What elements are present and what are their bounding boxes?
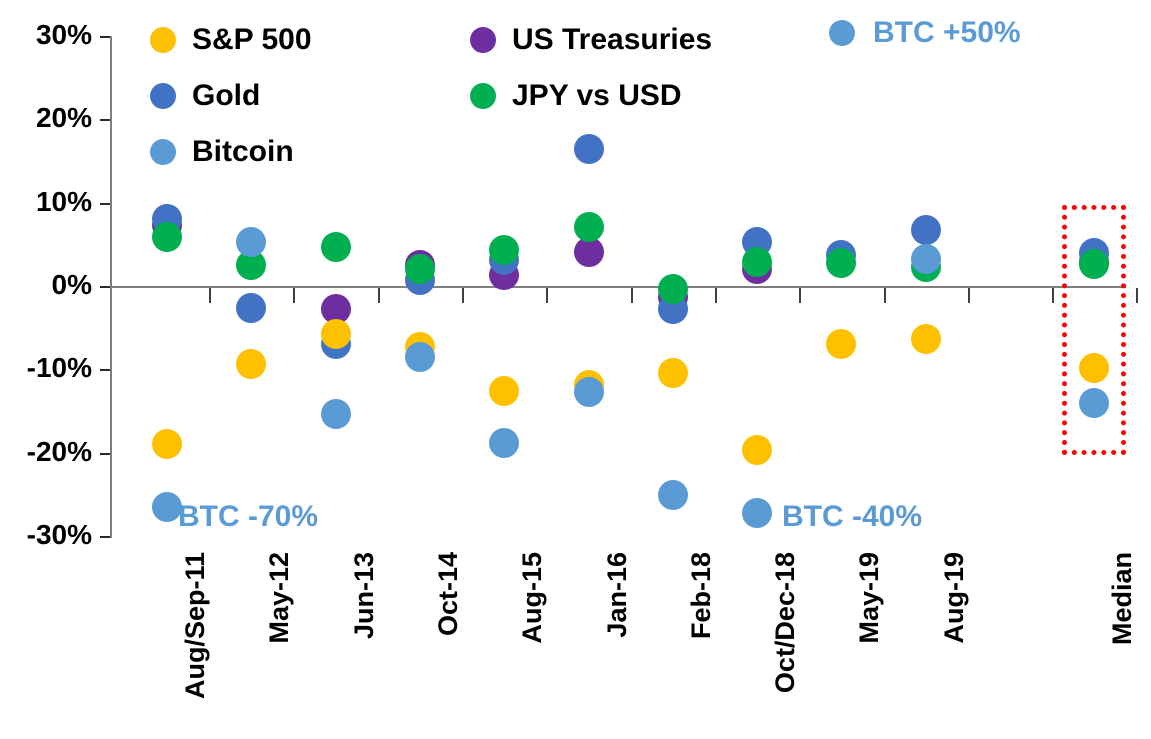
y-axis-tick: [100, 536, 110, 538]
y-axis-tick-label: -20%: [0, 438, 92, 466]
x-axis-tick: [1052, 288, 1054, 303]
data-point: [658, 274, 688, 304]
legend-item[interactable]: Bitcoin: [150, 124, 312, 180]
data-point: [658, 480, 688, 510]
data-point: [489, 376, 519, 406]
y-axis-tick-label: 10%: [0, 188, 92, 216]
y-axis-tick: [100, 453, 110, 455]
legend-item[interactable]: JPY vs USD: [470, 68, 712, 124]
data-point: [658, 358, 688, 388]
annotation-btc-down-70: BTC -70%: [178, 500, 318, 534]
data-point: [152, 429, 182, 459]
x-axis-tick: [293, 288, 295, 303]
data-point: [489, 428, 519, 458]
legend-column-1: S&P 500GoldBitcoin: [150, 12, 312, 180]
x-axis-tick: [715, 288, 717, 303]
legend-label: S&P 500: [192, 23, 312, 57]
x-axis-label: Feb-18: [686, 552, 717, 639]
y-axis-tick: [100, 203, 110, 205]
data-point: [236, 349, 266, 379]
data-point: [236, 293, 266, 323]
legend-item[interactable]: Gold: [150, 68, 312, 124]
x-axis-label: Jan-16: [602, 552, 633, 638]
legend-swatch-icon: [150, 83, 176, 109]
data-point: [405, 254, 435, 284]
x-axis-tick: [968, 288, 970, 303]
x-axis-tick: [209, 288, 211, 303]
y-axis-tick-label: 30%: [0, 21, 92, 49]
annotation-btc-up: BTC +50%: [829, 16, 1021, 50]
legend-label: Gold: [192, 79, 260, 113]
y-axis-tick-label: 0%: [0, 271, 92, 299]
legend-item[interactable]: US Treasuries: [470, 12, 712, 68]
x-axis-label: Aug-19: [939, 552, 970, 644]
data-point: [742, 498, 772, 528]
data-point: [742, 435, 772, 465]
data-point: [1079, 388, 1109, 418]
x-axis-tick: [546, 288, 548, 303]
y-axis-tick-label: -10%: [0, 354, 92, 382]
x-axis-label: Oct-14: [433, 552, 464, 636]
legend-column-2: US TreasuriesJPY vs USD: [470, 12, 712, 124]
data-point: [911, 244, 941, 274]
legend-swatch-icon: [470, 83, 496, 109]
y-axis-tick: [100, 36, 110, 38]
data-point: [742, 247, 772, 277]
legend-swatch-icon: [150, 27, 176, 53]
x-axis-label: Oct/Dec-18: [770, 552, 801, 693]
y-axis-tick-label: -30%: [0, 521, 92, 549]
data-point: [321, 319, 351, 349]
data-point: [152, 222, 182, 252]
legend-item[interactable]: S&P 500: [150, 12, 312, 68]
y-axis-tick: [100, 369, 110, 371]
bitcoin-dot-icon: [829, 20, 855, 46]
legend-label: JPY vs USD: [512, 79, 682, 113]
annotation-btc-down-40: BTC -40%: [782, 500, 922, 534]
y-axis-tick: [100, 119, 110, 121]
legend-label: US Treasuries: [512, 23, 712, 57]
x-axis-tick: [1136, 288, 1138, 303]
annotation-btc-up-label: BTC +50%: [873, 16, 1021, 50]
x-axis-label: Aug/Sep-11: [180, 552, 211, 699]
x-axis-tick: [799, 288, 801, 303]
x-axis-tick: [462, 288, 464, 303]
x-axis-label: May-19: [854, 552, 885, 644]
data-point: [911, 215, 941, 245]
x-axis-tick: [378, 288, 380, 303]
legend-swatch-icon: [150, 139, 176, 165]
x-axis-label: Median: [1107, 552, 1138, 645]
legend-swatch-icon: [470, 27, 496, 53]
data-point: [1079, 353, 1109, 383]
data-point: [911, 324, 941, 354]
data-point: [1079, 249, 1109, 279]
data-point: [574, 377, 604, 407]
data-point: [236, 227, 266, 257]
data-point: [574, 212, 604, 242]
y-axis-tick-label: 20%: [0, 104, 92, 132]
x-axis-label: May-12: [264, 552, 295, 644]
data-point: [321, 399, 351, 429]
x-axis-tick: [631, 288, 633, 303]
data-point: [574, 134, 604, 164]
x-axis-tick: [884, 288, 886, 303]
x-axis-label: Jun-13: [349, 552, 380, 639]
data-point: [826, 329, 856, 359]
y-axis-tick: [100, 286, 110, 288]
data-point: [826, 248, 856, 278]
data-point: [405, 342, 435, 372]
zero-baseline: [110, 286, 1126, 288]
legend-label: Bitcoin: [192, 135, 294, 169]
chart-container: 30%20%10%0%-10%-20%-30% Aug/Sep-11May-12…: [0, 0, 1151, 739]
x-axis-label: Aug-15: [517, 552, 548, 644]
data-point: [321, 232, 351, 262]
